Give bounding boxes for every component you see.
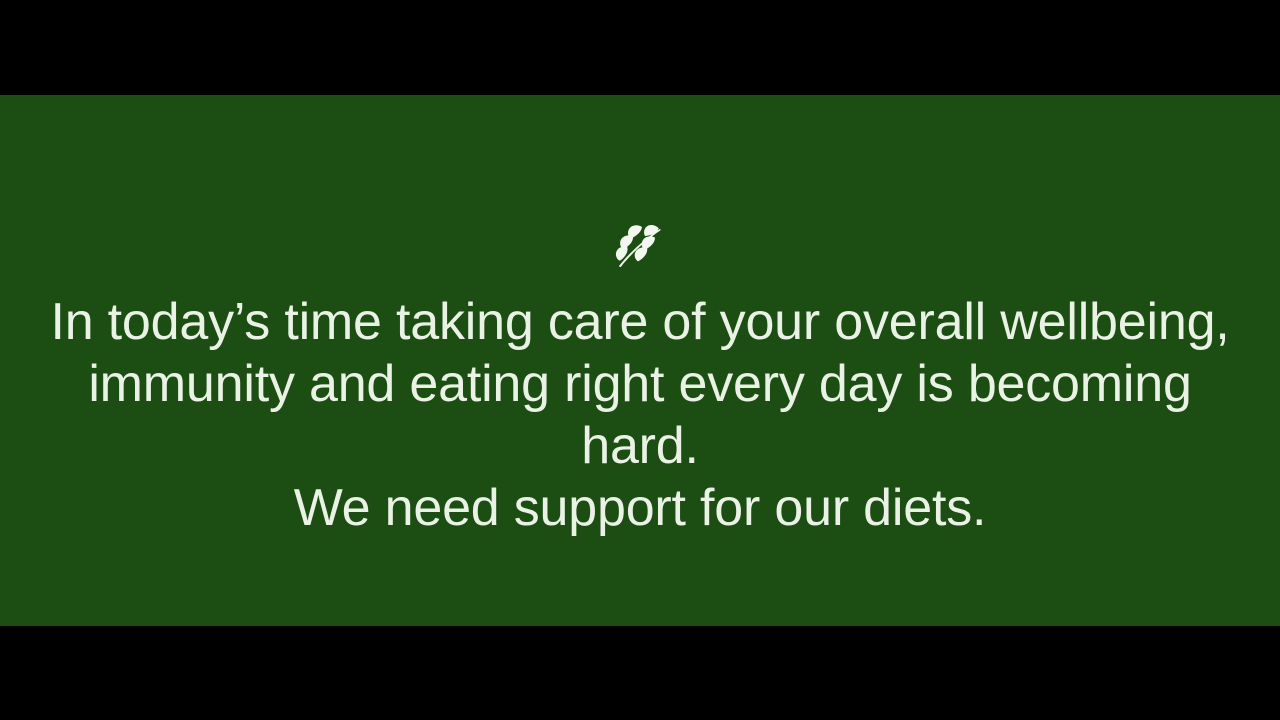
slide-stage: In today’s time taking care of your over… <box>0 95 1280 626</box>
headline-line-1: In today’s time taking care of your over… <box>25 291 1255 353</box>
headline-line-2: immunity and eating right every day is b… <box>25 353 1255 477</box>
video-frame: In today’s time taking care of your over… <box>0 0 1280 720</box>
headline-text: In today’s time taking care of your over… <box>25 291 1255 539</box>
slide-content: In today’s time taking care of your over… <box>0 95 1280 626</box>
leaf-sprig-icon <box>614 219 666 269</box>
headline-line-3: We need support for our diets. <box>25 477 1255 539</box>
letterbox-bar-top <box>0 0 1280 95</box>
letterbox-bar-bottom <box>0 626 1280 720</box>
